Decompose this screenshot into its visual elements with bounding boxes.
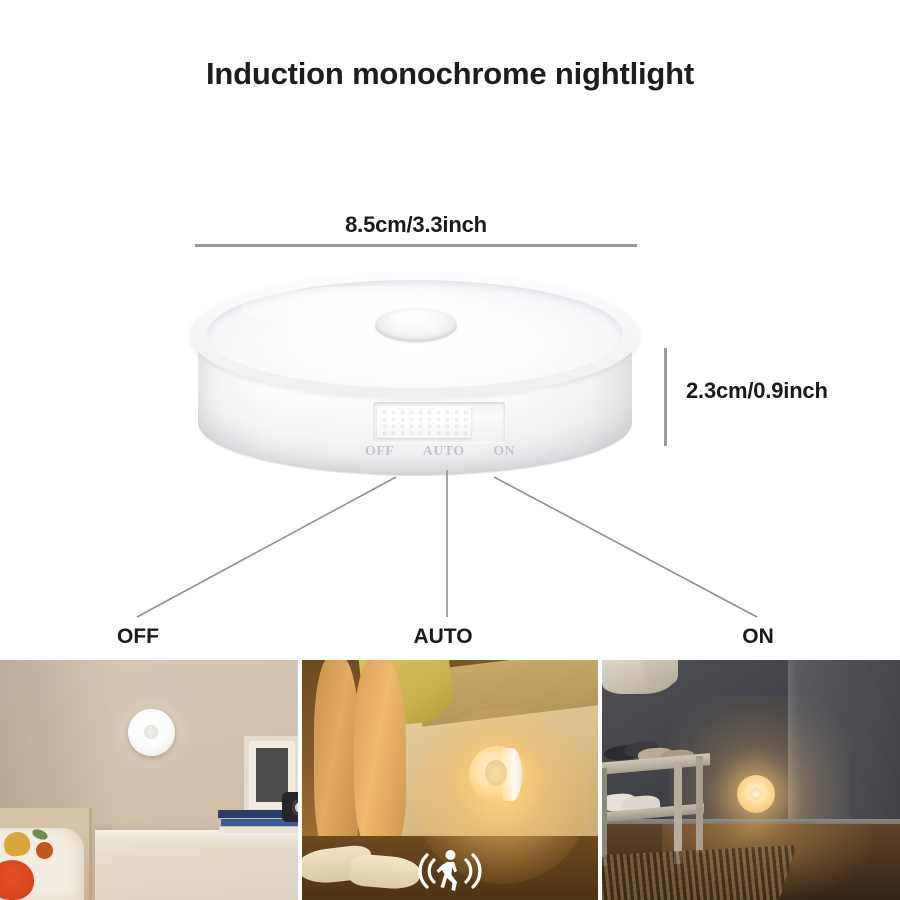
photo-hallway-night [602,660,900,900]
switch-grip-texture [380,409,468,435]
woven-rug [602,845,796,900]
lifestyle-photo-strip [0,660,900,900]
book-3 [219,827,298,833]
shoe-rack-leg-1 [674,762,682,864]
nightlight-sensor-dot [750,788,762,800]
switch-label-off: OFF [365,444,394,460]
mode-label-auto: AUTO [388,625,498,649]
hanging-coat-second [644,660,678,686]
switch-label-on: ON [493,444,515,460]
width-dimension-line [195,244,637,247]
mode-label-on: ON [710,625,806,649]
mode-label-off: OFF [88,625,188,649]
switch-engraved-labels: OFF AUTO ON [365,444,515,460]
motion-sensor-icon [418,846,482,896]
shoe-rack-leg-2 [696,756,703,852]
pillow-monkey-motif [2,830,31,857]
height-dimension-label: 2.3cm/0.9inch [686,378,828,404]
height-dimension-line [664,348,667,446]
person-leg-right [354,660,406,856]
sensor-dome-highlight [391,313,425,324]
product-infographic: Induction monochrome nightlight 8.5cm/3.… [0,0,900,900]
pillow-mouse-motif [36,842,53,859]
pillow-fox-motif [0,860,34,900]
pillow-leaf-motif [31,828,49,842]
page-title: Induction monochrome nightlight [0,56,900,92]
leader-line-on [494,477,757,617]
product-image: OFF AUTO ON [190,272,640,497]
mode-slide-switch[interactable] [373,402,505,442]
photo-bedroom [0,660,298,900]
width-dimension-label: 8.5cm/3.3inch [195,212,637,238]
switch-label-auto: AUTO [423,444,465,460]
shoe-rack-leg-3 [602,768,607,866]
leader-line-off [137,477,396,617]
nightlight-sensor-dot [144,725,158,739]
photo-bedside-motion [302,660,598,900]
nightlight-sensor-core [485,760,507,786]
animal-print-pillow [0,828,84,900]
switch-slider-handle[interactable] [377,406,471,438]
